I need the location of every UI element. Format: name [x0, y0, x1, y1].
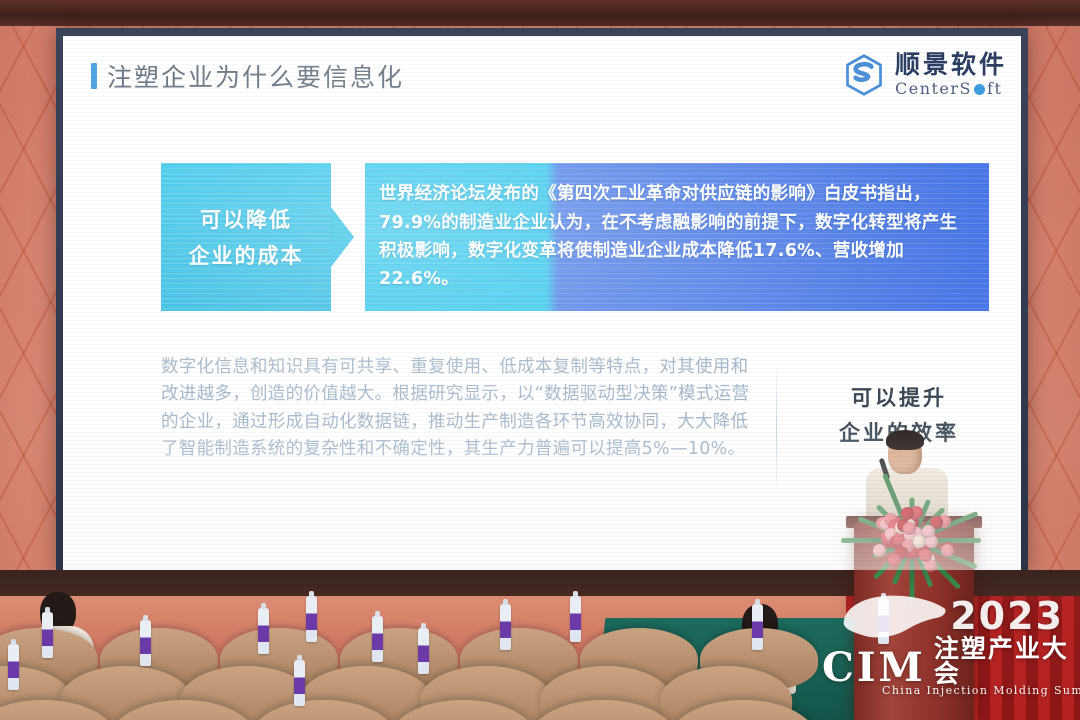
- water-bottle: [500, 604, 511, 650]
- conference-photo: 注塑企业为什么要信息化 顺景软件 CenterS ft 可以降低 企业的成本: [0, 0, 1080, 720]
- slide-title: 注塑企业为什么要信息化: [91, 58, 404, 94]
- water-bottle: [294, 660, 305, 706]
- water-bottle: [258, 608, 269, 654]
- watermark-acronym: CIM: [822, 650, 926, 686]
- event-watermark: 2023 CIM 注塑产业大会 China Injection Molding …: [818, 592, 1070, 710]
- flower-bloom: [901, 507, 914, 520]
- efficiency-tag-line-1: 可以提升: [851, 382, 947, 412]
- cost-paragraph-box: 世界经济论坛发布的《第四次工业革命对供应链的影响》白皮书指出，79.9%的制造业…: [365, 163, 989, 311]
- cost-paragraph-text: 世界经济论坛发布的《第四次工业革命对供应链的影响》白皮书指出，79.9%的制造业…: [365, 180, 989, 293]
- water-bottle: [140, 620, 151, 666]
- water-bottle: [418, 628, 429, 674]
- brand-wordmark: 顺景软件 CenterS ft: [895, 52, 1007, 97]
- floral-arrangement: [830, 482, 1002, 594]
- water-bottle: [8, 644, 19, 690]
- flower-bloom: [903, 522, 916, 535]
- watermark-name-en: China Injection Molding Summit: [882, 684, 1080, 697]
- cost-tag-line-2: 企业的成本: [189, 240, 304, 270]
- flower-bloom: [873, 544, 886, 557]
- water-bottle: [372, 616, 383, 662]
- efficiency-paragraph-text: 数字化信息和知识具有可共享、重复使用、低成本复制等特点，对其使用和改进越多，创造…: [161, 354, 759, 463]
- vertical-divider: [776, 358, 777, 502]
- brand-en-right: ft: [987, 81, 1002, 97]
- water-bottle: [306, 596, 317, 642]
- water-bottle: [42, 612, 53, 658]
- cost-reduction-tag: 可以降低 企业的成本: [161, 163, 331, 311]
- watermark-title-row: CIM 注塑产业大会: [822, 636, 1070, 686]
- brand-name-cn: 顺景软件: [895, 52, 1007, 77]
- flower-bloom: [941, 544, 954, 557]
- watermark-name-cn: 注塑产业大会: [934, 636, 1070, 686]
- arrow-right-icon: [331, 207, 354, 267]
- brand-en-left: CenterS: [895, 81, 972, 97]
- water-bottle: [752, 604, 763, 650]
- content-block-one: 可以降低 企业的成本 世界经济论坛发布的《第四次工业革命对供应链的影响》白皮书指…: [161, 163, 989, 311]
- hexagon-s-icon: [842, 53, 886, 97]
- brand-logo: 顺景软件 CenterS ft: [842, 52, 1007, 97]
- brand-name-en: CenterS ft: [895, 81, 1007, 97]
- water-bottle: [570, 596, 581, 642]
- title-accent-bar: [91, 63, 97, 89]
- watermark-year: 2023: [950, 594, 1064, 638]
- page-title: 注塑企业为什么要信息化: [107, 58, 404, 94]
- speaker-hair: [886, 430, 924, 450]
- ceiling-beam: [0, 0, 1080, 26]
- cost-tag-line-1: 可以降低: [200, 204, 292, 234]
- tag-scanlines: [161, 163, 331, 311]
- brand-dot-icon: [974, 84, 985, 95]
- flower-bloom: [919, 549, 932, 562]
